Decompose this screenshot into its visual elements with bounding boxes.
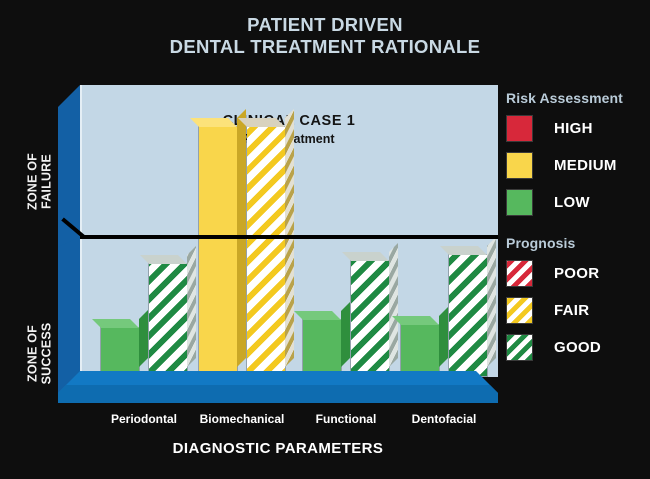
bar-prognosis-biomechanical-top bbox=[238, 118, 285, 127]
bar-prognosis-functional-side bbox=[389, 243, 398, 367]
bar-risk-functional-top bbox=[294, 311, 341, 320]
risk-swatch-high-icon bbox=[506, 115, 533, 142]
zone-label-success: ZONE OF SUCCESS bbox=[27, 306, 54, 402]
bar-prognosis-dentofacial-side bbox=[487, 237, 496, 367]
zone-label-failure: ZONE OF FAILURE bbox=[27, 134, 54, 230]
left-wall-lower bbox=[58, 237, 80, 395]
bar-risk-dentofacial-top bbox=[392, 316, 439, 325]
legend-heading-risk: Risk Assessment bbox=[506, 90, 646, 106]
legend-label-poor: POOR bbox=[554, 265, 599, 282]
page-title: PATIENT DRIVEN DENTAL TREATMENT RATIONAL… bbox=[0, 14, 650, 58]
bar-prognosis-dentofacial-face bbox=[449, 255, 487, 376]
bar-prognosis-dentofacial bbox=[448, 254, 488, 377]
bar-risk-functional-face bbox=[303, 320, 341, 376]
bar-prognosis-functional-face bbox=[351, 261, 389, 376]
legend-label-low: LOW bbox=[554, 194, 590, 211]
x-label-dentofacial: Dentofacial bbox=[384, 412, 504, 426]
legend-group-risk: HIGHMEDIUMLOW bbox=[506, 115, 646, 216]
bar-prognosis-functional bbox=[350, 260, 390, 377]
threshold-line-wall bbox=[58, 235, 82, 257]
bar-risk-functional bbox=[302, 319, 342, 377]
chart-scene: CLINICAL CASE 1 Post-Treatment bbox=[58, 85, 498, 410]
prognosis-swatch-fair-icon bbox=[506, 297, 533, 324]
bar-prognosis-dentofacial-top bbox=[440, 246, 487, 255]
bar-risk-dentofacial bbox=[400, 324, 440, 377]
legend-item-medium[interactable]: MEDIUM bbox=[506, 152, 646, 179]
bar-risk-periodontal-face bbox=[101, 328, 139, 376]
legend-item-fair[interactable]: FAIR bbox=[506, 297, 646, 324]
bar-prognosis-biomechanical bbox=[246, 126, 286, 377]
bar-prognosis-periodontal-face bbox=[149, 264, 187, 376]
legend-label-medium: MEDIUM bbox=[554, 157, 617, 174]
legend-label-good: GOOD bbox=[554, 339, 601, 356]
title-line-2: DENTAL TREATMENT RATIONALE bbox=[0, 36, 650, 58]
bar-risk-periodontal-top bbox=[92, 319, 139, 328]
bar-prognosis-functional-top bbox=[342, 252, 389, 261]
bar-risk-dentofacial-side bbox=[439, 307, 448, 367]
legend-label-fair: FAIR bbox=[554, 302, 589, 319]
legend-heading-prognosis: Prognosis bbox=[506, 235, 646, 251]
risk-swatch-medium-icon bbox=[506, 152, 533, 179]
bar-prognosis-periodontal-top bbox=[140, 255, 187, 264]
bar-risk-periodontal-side bbox=[139, 310, 148, 367]
threshold-line bbox=[80, 235, 498, 239]
x-label-biomechanical: Biomechanical bbox=[182, 412, 302, 426]
prognosis-swatch-poor-icon bbox=[506, 260, 533, 287]
bar-risk-biomechanical-top bbox=[190, 118, 237, 127]
legend: Risk Assessment HIGHMEDIUMLOW Prognosis … bbox=[506, 90, 646, 371]
legend-item-low[interactable]: LOW bbox=[506, 189, 646, 216]
bar-prognosis-periodontal bbox=[148, 263, 188, 377]
title-line-1: PATIENT DRIVEN bbox=[0, 14, 650, 36]
bar-group-container bbox=[80, 85, 498, 377]
prognosis-swatch-good-icon bbox=[506, 334, 533, 361]
legend-item-high[interactable]: HIGH bbox=[506, 115, 646, 142]
legend-label-high: HIGH bbox=[554, 120, 593, 137]
infographic-root: PATIENT DRIVEN DENTAL TREATMENT RATIONAL… bbox=[0, 0, 650, 479]
x-axis-title: DIAGNOSTIC PARAMETERS bbox=[58, 440, 498, 457]
x-axis-category-labels: PeriodontalBiomechanicalFunctionalDentof… bbox=[58, 412, 498, 430]
legend-group-prognosis: POORFAIRGOOD bbox=[506, 260, 646, 361]
bar-risk-dentofacial-face bbox=[401, 325, 439, 376]
bar-prognosis-periodontal-side bbox=[187, 246, 196, 367]
bar-risk-periodontal bbox=[100, 327, 140, 377]
risk-swatch-low-icon bbox=[506, 189, 533, 216]
bar-risk-biomechanical-face bbox=[199, 127, 237, 376]
chart-floor-front bbox=[58, 385, 498, 403]
bar-prognosis-biomechanical-face bbox=[247, 127, 285, 376]
bar-risk-functional-side bbox=[341, 302, 350, 367]
bar-risk-biomechanical bbox=[198, 126, 238, 377]
legend-item-poor[interactable]: POOR bbox=[506, 260, 646, 287]
legend-item-good[interactable]: GOOD bbox=[506, 334, 646, 361]
